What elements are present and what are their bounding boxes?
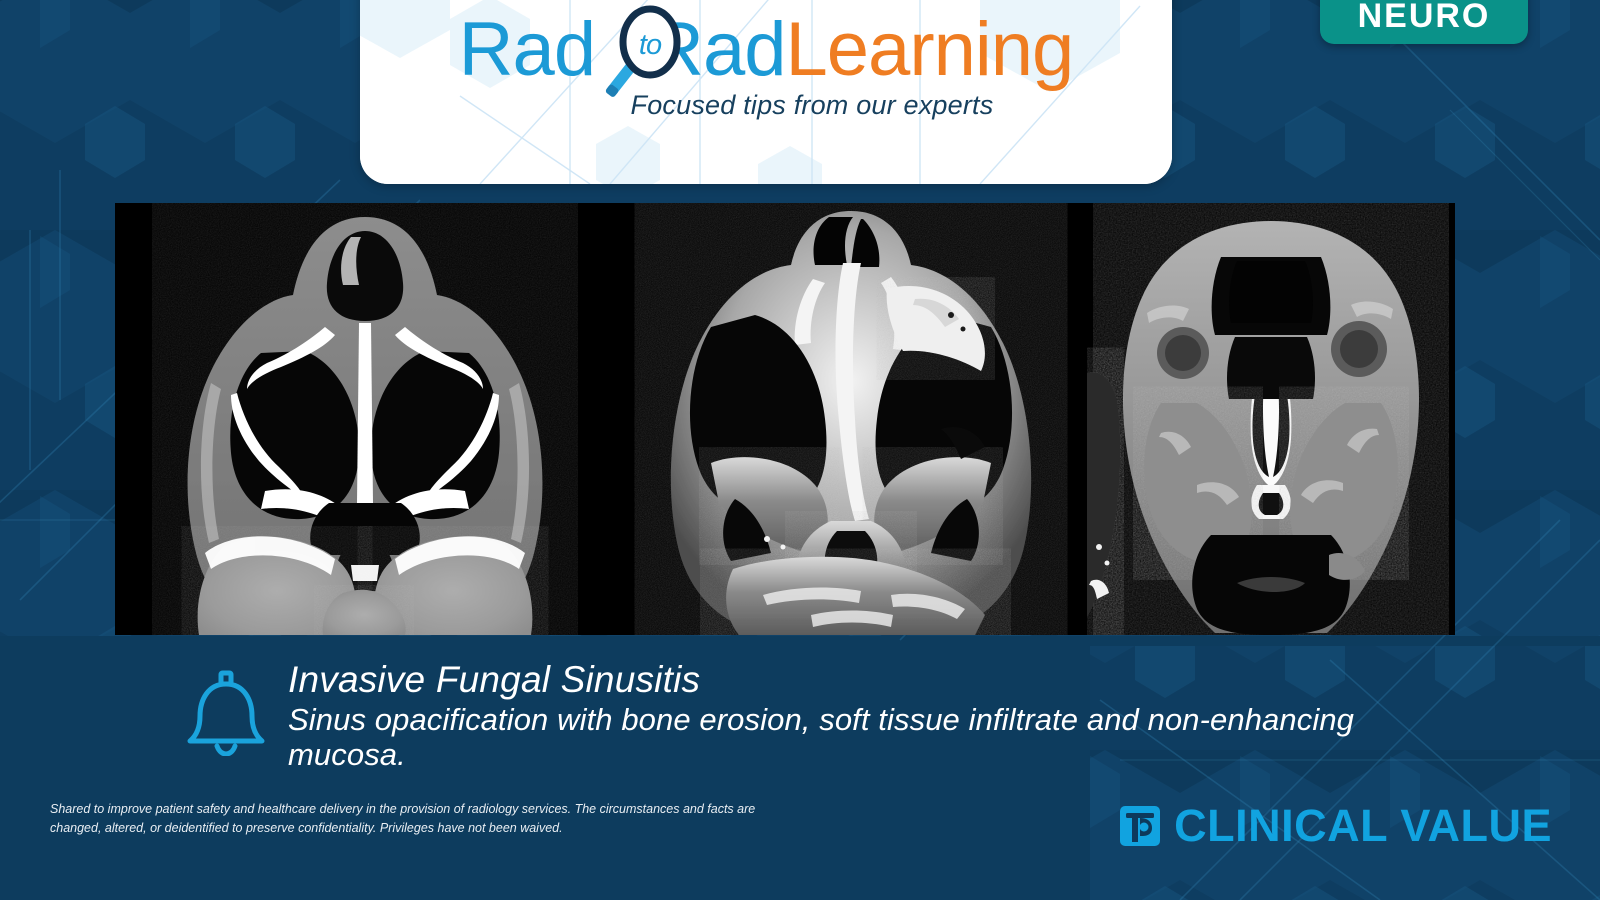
diagnosis-title: Invasive Fungal Sinusitis xyxy=(288,660,1406,700)
clinical-value-logo: CLINICAL VALUE xyxy=(1118,802,1552,848)
legal-disclaimer: Shared to improve patient safety and hea… xyxy=(50,800,790,839)
scan-panel-axial-ct[interactable] xyxy=(115,203,615,635)
category-badge-neuro: NEURO xyxy=(1320,0,1528,44)
slide-canvas: RadRadLearning to Focused tips from our xyxy=(0,0,1600,900)
brand-logo: RadRadLearning to Focused tips from our xyxy=(360,12,1172,121)
diagnosis-description: Sinus opacification with bone erosion, s… xyxy=(288,702,1406,773)
magnifying-glass-icon: to xyxy=(604,4,696,112)
category-badge-label: NEURO xyxy=(1358,0,1491,33)
loupe-to-text: to xyxy=(639,29,662,61)
scan-panel-axial-mri[interactable] xyxy=(615,203,1087,635)
clinical-value-label: CLINICAL VALUE xyxy=(1174,803,1552,848)
brand-tagline: Focused tips from our experts xyxy=(360,90,1172,121)
clinical-value-mark-icon xyxy=(1118,802,1162,848)
bell-icon xyxy=(186,660,272,756)
scan-panel-coronal-mri[interactable] xyxy=(1087,203,1455,635)
wordmark-learning: Learning xyxy=(786,7,1074,92)
caption-block: Invasive Fungal Sinusitis Sinus opacific… xyxy=(186,660,1406,773)
caption-text-group: Invasive Fungal Sinusitis Sinus opacific… xyxy=(272,660,1406,773)
wordmark-rad-1: Rad xyxy=(459,7,595,92)
brand-wordmark: RadRadLearning to xyxy=(459,12,1074,88)
brand-logo-card: RadRadLearning to Focused tips from our xyxy=(360,0,1172,184)
radiology-image-strip xyxy=(115,203,1455,635)
